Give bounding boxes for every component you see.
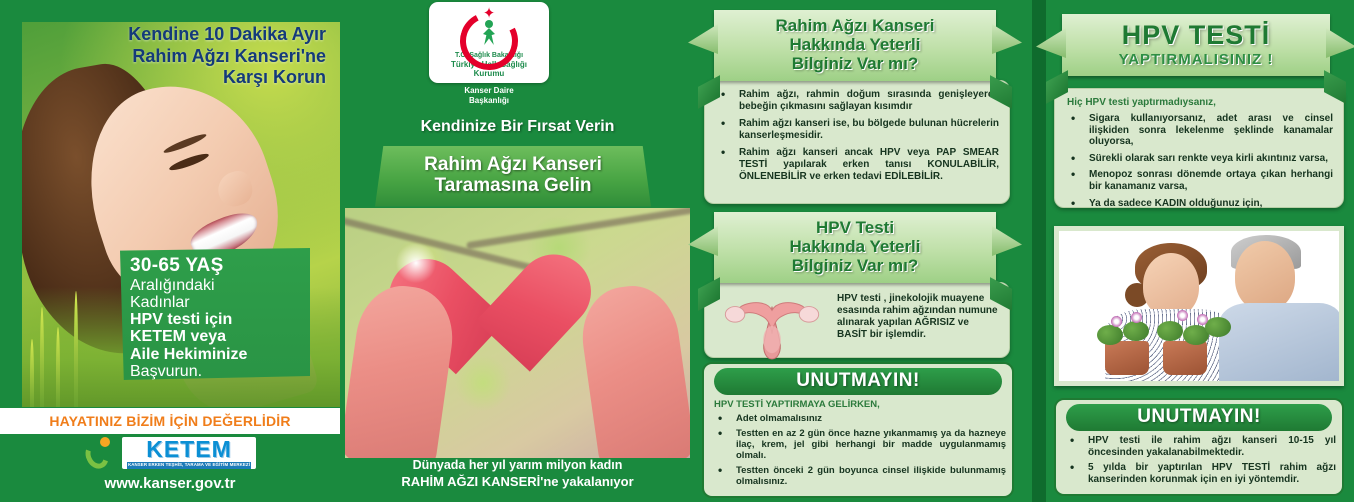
ketem-logo: KETEM KANSER ERKEN TEŞHİS, TARAMA VE EĞİ…: [0, 436, 340, 470]
hand-right: [576, 280, 690, 458]
paper-heart: [451, 258, 583, 380]
panel-column-3: Rahim Ağzı Kanseri Hakkında Yeterli Bilg…: [696, 0, 1026, 502]
list-item: Rahim ağzı kanseri ancak HPV veya PAP SM…: [713, 147, 999, 182]
column2-ribbon-banner: Rahim Ağzı Kanseri Taramasına Gelin: [375, 146, 651, 207]
callout-line-3: Kadınlar: [130, 294, 300, 311]
uterus-anatomy-icon: [713, 291, 831, 361]
header-line-3: Bilginiz Var mı?: [724, 54, 986, 73]
risk-bullet-list: Sigara kullanıyorsanız, adet arası ve ci…: [1063, 113, 1333, 209]
grass-blade: [74, 291, 78, 407]
remember-bullet-list: HPV testi ile rahim ağzı kanseri 10-15 y…: [1062, 435, 1336, 485]
section-header-cervical-cancer: Rahim Ağzı Kanseri Hakkında Yeterli Bilg…: [714, 10, 996, 81]
man-head: [1235, 241, 1295, 311]
caption-bold-part: RAHİM AĞZI KANSERİ: [401, 474, 540, 489]
list-item: Rahim ağzı kanseri ise, bu bölgede bulun…: [713, 118, 999, 141]
strapline-bar: HAYATINIZ BİZİM İÇİN DEĞERLİDİR: [0, 408, 340, 434]
column2-caption: Dünyada her yıl yarım milyon kadın RAHİM…: [345, 458, 690, 490]
risk-lead-text: Hiç HPV testi yaptırmadıysanız,: [1067, 97, 1333, 108]
grass-blade: [30, 339, 34, 407]
department-line-2: Başkanlığı: [429, 96, 549, 106]
man-striped-shirt: [1219, 303, 1341, 386]
unutmayin-pill-label: UNUTMAYIN!: [1066, 404, 1332, 431]
ribbon-wing-left: [688, 226, 718, 256]
hpv-risk-card: Hiç HPV testi yaptırmadıysanız, Sigara k…: [1054, 88, 1344, 208]
section-header-hpv-must: HPV TESTİ YAPTIRMALISINIZ !: [1062, 14, 1330, 76]
ketem-word-text: KETEM: [127, 438, 251, 461]
header-line-3: Bilginiz Var mı?: [724, 256, 986, 275]
column1-headline: Kendine 10 Dakika Ayır Rahim Ağzı Kanser…: [26, 24, 326, 89]
list-item: Sigara kullanıyorsanız, adet arası ve ci…: [1063, 113, 1333, 148]
ribbon-wing-right: [992, 24, 1022, 54]
unutmayin-pill-label: UNUTMAYIN!: [714, 368, 1002, 395]
callout-line-4: HPV testi için: [130, 311, 300, 328]
plant-leaf: [1097, 325, 1123, 345]
list-item: Testten en az 2 gün önce hazne yıkanmamı…: [710, 428, 1006, 461]
remember-card-column4: UNUTMAYIN! HPV testi ile rahim ağzı kans…: [1054, 398, 1344, 496]
ribbon-wing-left: [688, 24, 718, 54]
headline-line-2: Rahim Ağzı Kanseri'ne: [26, 46, 326, 68]
violet-flower: [1131, 312, 1142, 323]
figure-body: [483, 28, 495, 45]
ketem-logo-block: KETEM KANSER ERKEN TEŞHİS, TARAMA VE EĞİ…: [0, 436, 340, 492]
age-callout-box: 30-65 YAŞ Aralığındaki Kadınlar HPV test…: [120, 248, 310, 380]
website-url[interactable]: www.kanser.gov.tr: [0, 475, 340, 492]
header-line-2: YAPTIRMALISINIZ !: [1072, 51, 1320, 68]
caption-line-1: Dünyada her yıl yarım milyon kadın: [345, 458, 690, 474]
hpv-test-info-card: HPV testi , jinekolojik muayene esasında…: [704, 282, 1010, 358]
headline-line-3: Karşı Korun: [26, 67, 326, 89]
strapline-text: HAYATINIZ BİZİM İÇİN DEĞERLİDİR: [49, 413, 290, 429]
ministry-logo-card: ✦ T.C. Sağlık Bakanlığı Türkiye Halk Sağ…: [429, 2, 549, 83]
callout-line-5: KETEM veya: [130, 328, 300, 345]
tree-branch: [466, 208, 690, 249]
plant-leaf: [1205, 317, 1231, 337]
hpv-test-description: HPV testi , jinekolojik muayene esasında…: [837, 291, 999, 341]
hands-heart-photo: [345, 208, 690, 458]
header-line-1: HPV TESTİ: [1072, 20, 1320, 51]
grass-blade: [40, 307, 44, 407]
list-item: Rahim ağzı, rahmin doğum sırasında geniş…: [713, 89, 999, 112]
callout-line-1: 30-65 YAŞ: [130, 256, 300, 277]
older-couple-photo: [1054, 226, 1344, 386]
uterus-svg: [713, 291, 831, 361]
panel-column-1: Kendine 10 Dakika Ayır Rahim Ağzı Kanser…: [0, 0, 340, 502]
column4-left-band: [1032, 0, 1046, 502]
flower-pot: [1163, 341, 1207, 375]
remember-bullet-list: Adet olmamalısınız Testten en az 2 gün ö…: [710, 413, 1006, 487]
header-line-2: Hakkında Yeterli: [724, 35, 986, 54]
department-line-1: Kanser Daire: [429, 86, 549, 96]
section-header-hpv-test: HPV Testi Hakkında Yeterli Bilginiz Var …: [714, 212, 996, 283]
human-figure-icon: [481, 20, 497, 46]
ministry-line-3: Kurumu: [435, 69, 543, 78]
poster-root: Kendine 10 Dakika Ayır Rahim Ağzı Kanser…: [0, 0, 1354, 502]
list-item: Menopoz sonrası dönemde ortaya çıkan her…: [1063, 169, 1333, 192]
callout-line-6: Aile Hekiminize: [130, 346, 300, 363]
remember-lead-text: HPV TESTİ YAPTIRMAYA GELİRKEN,: [714, 399, 1006, 410]
cervical-cancer-info-card: Rahim ağzı, rahmin doğum sırasında geniş…: [704, 80, 1010, 204]
violet-flower: [1111, 316, 1122, 327]
ketem-subtitle: KANSER ERKEN TEŞHİS, TARAMA VE EĞİTİM ME…: [127, 462, 251, 468]
column2-tagline: Kendinize Bir Fırsat Verin: [345, 118, 690, 136]
grass-blade: [56, 327, 60, 407]
ministry-emblem-icon: ✦: [435, 6, 543, 52]
remember-card-column3: UNUTMAYIN! HPV TESTİ YAPTIRMAYA GELİRKEN…: [702, 362, 1014, 498]
plant-leaf: [1123, 321, 1149, 341]
ribbon-line-2: Taramasına Gelin: [383, 175, 643, 196]
list-item: Adet olmamalısınız: [710, 413, 1006, 424]
woman-head: [1143, 253, 1199, 317]
ribbon-line-1: Rahim Ağzı Kanseri: [383, 154, 643, 175]
panel-column-2: ✦ T.C. Sağlık Bakanlığı Türkiye Halk Sağ…: [345, 0, 690, 502]
list-item: HPV testi ile rahim ağzı kanseri 10-15 y…: [1062, 435, 1336, 458]
headline-line-1: Kendine 10 Dakika Ayır: [26, 24, 326, 46]
callout-line-2: Aralığındaki: [130, 277, 300, 294]
caption-line-2: RAHİM AĞZI KANSERİ'ne yakalanıyor: [345, 474, 690, 490]
ministry-logo-block: ✦ T.C. Sağlık Bakanlığı Türkiye Halk Sağ…: [429, 2, 549, 106]
star-icon: ✦: [483, 6, 496, 21]
violet-flower: [1177, 310, 1188, 321]
hand-left: [345, 280, 459, 458]
department-name: Kanser Daire Başkanlığı: [429, 86, 549, 105]
header-line-1: Rahim Ağzı Kanseri: [724, 16, 986, 35]
list-item: Sürekli olarak sarı renkte veya kirli ak…: [1063, 153, 1333, 165]
list-item: Ya da sadece KADIN olduğunuz için,: [1063, 198, 1333, 210]
violet-flower: [1197, 314, 1208, 325]
ribbon-wing-right: [992, 226, 1022, 256]
caption-rest-part: 'ne yakalanıyor: [540, 474, 633, 489]
panel-column-4: HPV TESTİ YAPTIRMALISINIZ ! Hiç HPV test…: [1032, 0, 1354, 502]
figure-head: [485, 20, 493, 28]
plant-leaf: [1157, 321, 1183, 341]
header-line-2: Hakkında Yeterli: [724, 237, 986, 256]
light-sparkle: [393, 240, 439, 286]
cervical-cancer-bullet-list: Rahim ağzı, rahmin doğum sırasında geniş…: [713, 89, 999, 182]
header-line-1: HPV Testi: [724, 218, 986, 237]
list-item: Testten önceki 2 gün boyunca cinsel iliş…: [710, 465, 1006, 487]
ketem-figure-icon: [84, 436, 118, 470]
ketem-wordmark: KETEM KANSER ERKEN TEŞHİS, TARAMA VE EĞİ…: [122, 437, 256, 468]
flower-pot: [1105, 341, 1149, 375]
list-item: 5 yılda bir yaptırılan HPV TESTİ rahim a…: [1062, 462, 1336, 485]
ribbon-wing-right: [1326, 28, 1354, 58]
